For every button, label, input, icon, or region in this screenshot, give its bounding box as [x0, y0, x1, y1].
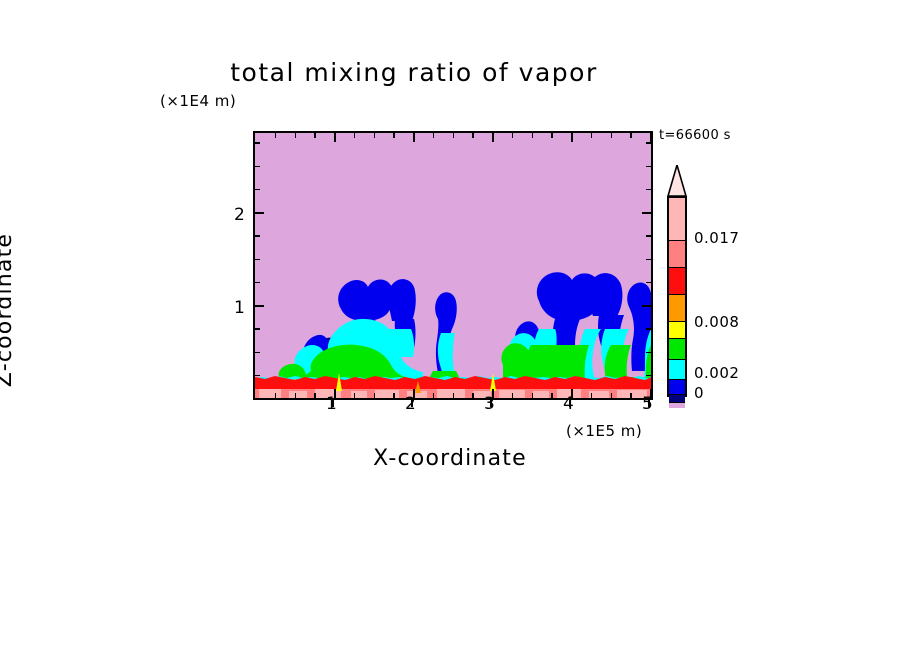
- x-tick-label-4: 4: [563, 394, 574, 414]
- colorbar-label-3: 0: [694, 384, 704, 402]
- colorbar-band-0: [669, 198, 685, 241]
- y-minor-tick: [646, 166, 651, 168]
- x-minor-tick: [314, 133, 316, 138]
- y-minor-tick: [255, 328, 260, 330]
- x-minor-tick: [591, 393, 593, 398]
- x-minor-tick: [354, 133, 356, 138]
- y-tick-label-2: 2: [234, 205, 245, 225]
- y-minor-tick: [646, 352, 651, 354]
- y-minor-tick: [642, 305, 651, 307]
- y-minor-tick: [646, 235, 651, 237]
- y-minor-tick: [255, 375, 260, 377]
- x-minor-tick: [295, 393, 297, 398]
- x-minor-tick: [630, 133, 632, 138]
- x-minor-tick: [413, 133, 415, 142]
- y-minor-tick: [255, 352, 260, 354]
- x-minor-tick: [611, 393, 613, 398]
- x-minor-tick: [630, 393, 632, 398]
- x-minor-tick: [551, 393, 553, 398]
- x-minor-tick: [433, 133, 435, 138]
- x-minor-tick: [453, 393, 455, 398]
- x-minor-tick: [532, 133, 534, 138]
- colorbar-label-2: 0.002: [694, 364, 739, 382]
- contour-field: [255, 133, 651, 398]
- x-minor-tick: [551, 133, 553, 138]
- x-minor-tick: [472, 133, 474, 138]
- colorbar-label-1: 0.008: [694, 313, 739, 331]
- colorbar-top-arrow: [667, 165, 687, 197]
- colorbar-band-2: [669, 268, 685, 295]
- x-minor-tick: [472, 393, 474, 398]
- x-minor-tick: [374, 393, 376, 398]
- x-axis-label: X-coordinate: [0, 446, 902, 471]
- colorbar: [667, 196, 687, 397]
- x-minor-tick: [453, 133, 455, 138]
- x-tick-label-5: 5: [642, 394, 653, 414]
- y-minor-tick: [255, 166, 260, 168]
- timestamp-label: t=66600 s: [659, 128, 731, 143]
- colorbar-band-1: [669, 241, 685, 268]
- y-minor-tick: [646, 259, 651, 261]
- x-minor-tick: [512, 393, 514, 398]
- y-minor-tick: [255, 235, 260, 237]
- x-tick-label-2: 2: [405, 394, 416, 414]
- colorbar-band-3: [669, 295, 685, 322]
- x-minor-tick: [532, 393, 534, 398]
- colorbar-band-9: [669, 403, 685, 408]
- y-minor-tick: [255, 282, 260, 284]
- x-minor-tick: [650, 133, 652, 142]
- colorbar-band-8: [669, 395, 685, 403]
- y-minor-tick: [255, 212, 264, 214]
- x-minor-tick: [334, 133, 336, 142]
- contour-plot-area: [253, 131, 653, 400]
- x-minor-tick: [433, 393, 435, 398]
- colorbar-band-5: [669, 339, 685, 360]
- x-minor-tick: [393, 393, 395, 398]
- y-minor-tick: [646, 142, 651, 144]
- x-minor-tick: [314, 393, 316, 398]
- x-minor-tick: [611, 133, 613, 138]
- y-minor-tick: [646, 189, 651, 191]
- x-tick-label-1: 1: [326, 394, 337, 414]
- y-minor-tick: [255, 142, 260, 144]
- x-minor-tick: [295, 133, 297, 138]
- y-minor-tick: [646, 282, 651, 284]
- y-minor-tick: [255, 305, 264, 307]
- x-minor-tick: [512, 133, 514, 138]
- y-minor-tick: [255, 259, 260, 261]
- x-minor-tick: [354, 393, 356, 398]
- x-minor-tick: [374, 133, 376, 138]
- chart-title: total mixing ratio of vapor: [0, 58, 866, 87]
- colorbar-band-7: [669, 380, 685, 395]
- x-axis-unit-label: (×1E5 m): [566, 422, 642, 440]
- x-tick-label-3: 3: [484, 394, 495, 414]
- y-axis-unit-label: (×1E4 m): [160, 92, 236, 110]
- x-minor-tick: [393, 133, 395, 138]
- x-minor-tick: [571, 133, 573, 142]
- colorbar-band-6: [669, 360, 685, 380]
- y-axis-label: Z-coordinate: [0, 160, 17, 460]
- y-tick-label-1: 1: [234, 298, 245, 318]
- y-minor-tick: [646, 375, 651, 377]
- x-minor-tick: [275, 393, 277, 398]
- y-minor-tick: [642, 212, 651, 214]
- y-minor-tick: [255, 189, 260, 191]
- colorbar-band-4: [669, 322, 685, 339]
- colorbar-label-0: 0.017: [694, 229, 739, 247]
- x-minor-tick: [492, 133, 494, 142]
- y-minor-tick: [646, 328, 651, 330]
- x-minor-tick: [591, 133, 593, 138]
- x-minor-tick: [275, 133, 277, 138]
